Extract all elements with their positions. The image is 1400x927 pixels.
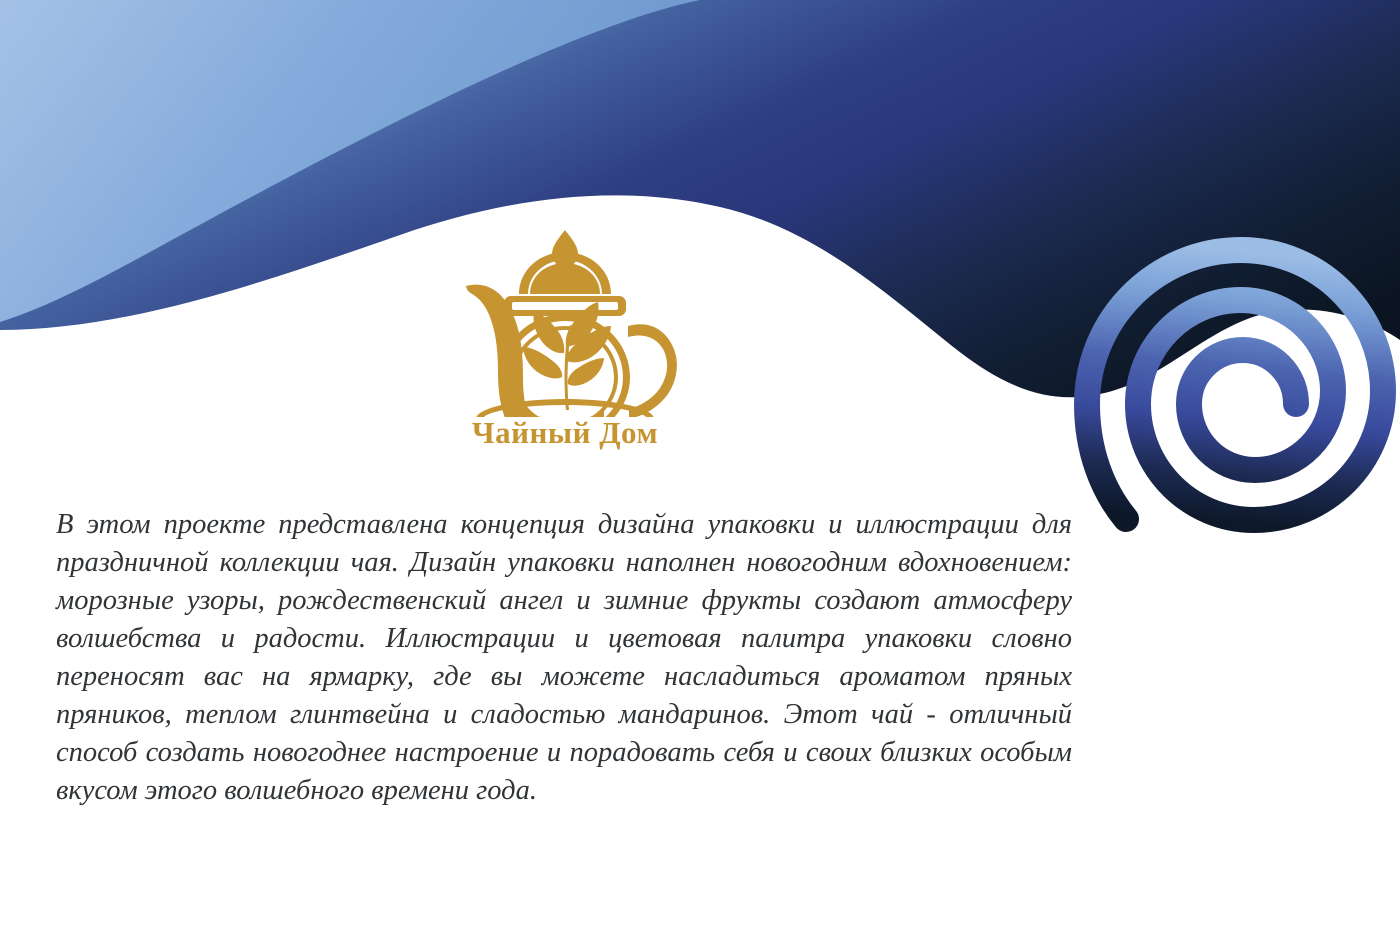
teapot-with-tea-leaves-icon [440,222,690,417]
description-paragraph: В этом проекте представлена концепция ди… [56,506,1072,810]
slide-canvas: Чайный Дом В этом проекте представлена к… [0,0,1400,927]
blue-spiral [1087,250,1383,520]
brand-logo: Чайный Дом [440,222,690,467]
brand-wordmark: Чайный Дом [440,415,690,451]
